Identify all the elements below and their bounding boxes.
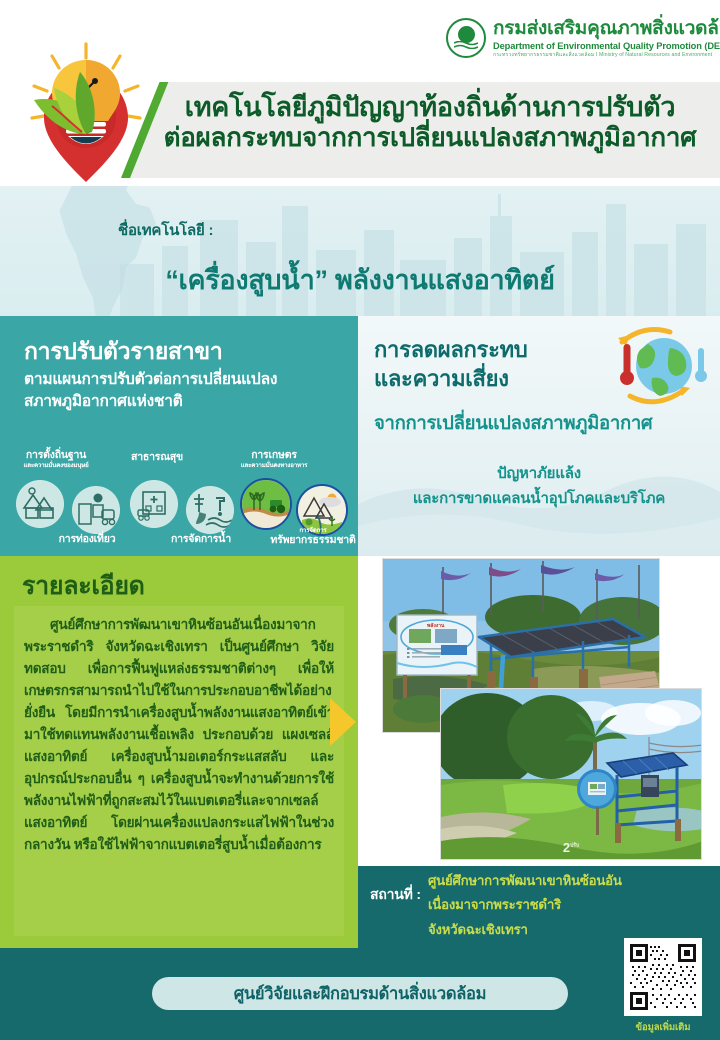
location-line3: จังหวัดฉะเชิงเทรา: [428, 918, 628, 942]
poster-root: กรมส่งเสริมคุณภาพสิ่งแวดล้อม Department …: [0, 0, 720, 1040]
solar-pump-ricefield-photo[interactable]: 2ปรับ: [440, 688, 702, 860]
adaptation-subheading-line1: ตามแผนการปรับตัวต่อการเปลี่ยนแปลง: [24, 369, 354, 391]
org-name-th: กรมส่งเสริมคุณภาพสิ่งแวดล้อม: [493, 18, 720, 40]
footer-pill[interactable]: ศูนย์วิจัยและฝึกอบรมด้านสิ่งแวดล้อม: [152, 977, 568, 1010]
deqp-emblem-icon: [446, 18, 486, 58]
public-health-icon[interactable]: [130, 480, 178, 528]
sector-label-natural-resources: การจัดการ ทรัพยากรธรรมชาติ: [268, 528, 358, 546]
sector-label-settlement: การตั้งถิ่นฐาน และความมั่นคงของมนุษย์: [6, 450, 106, 469]
impact-issue-line1: ปัญหาภัยแล้ง: [358, 462, 720, 487]
page-title-line2: ต่อผลกระทบจากการเปลี่ยนแปลงสภาพภูมิอากาศ: [150, 123, 710, 153]
adaptation-subheading-line2: สภาพภูมิอากาศแห่งชาติ: [24, 391, 354, 413]
location-line1: ศูนย์ศึกษาการพัฒนาเขาหินซ้อนอัน: [428, 869, 628, 893]
photo-watermark: 2ปรับ: [563, 840, 579, 855]
water-management-icon[interactable]: [186, 486, 234, 534]
sector-label-agriculture: การเกษตร และความมั่นคงทางอาหาร: [224, 450, 324, 469]
impact-subheading: จากการเปลี่ยนแปลงสภาพภูมิอากาศ: [374, 409, 704, 438]
deqp-logo: กรมส่งเสริมคุณภาพสิ่งแวดล้อม Department …: [446, 18, 720, 60]
arrow-right-icon: [330, 698, 356, 746]
impact-heading-line1: การลดผลกระทบ: [374, 336, 604, 365]
sector-icon-row: การตั้งถิ่นฐาน และความมั่นคงของมนุษย์ สา…: [0, 448, 358, 556]
details-heading: รายละเอียด: [22, 566, 145, 606]
svg-text:พลังงาน: พลังงาน: [427, 622, 445, 629]
technology-label: ชื่อเทคโนโลยี :: [118, 218, 213, 242]
impact-heading: การลดผลกระทบ และความเสี่ยง: [374, 336, 604, 393]
location-value: ศูนย์ศึกษาการพัฒนาเขาหินซ้อนอัน เนื่องมา…: [428, 869, 628, 942]
technology-name: “เครื่องสูบน้ำ” พลังงานแสงอาทิตย์: [0, 258, 720, 301]
qr-caption: ข้อมูลเพิ่มเติม: [612, 1020, 714, 1035]
qr-code-icon: [628, 942, 698, 1012]
sector-label-public-health: สาธารณสุข: [112, 452, 202, 464]
details-text: ศูนย์ศึกษาการพัฒนาเขาหินซ้อนอันเนื่องมาจ…: [24, 614, 334, 856]
globe-thermometer-icon: [600, 326, 712, 408]
org-name-en: Department of Environmental Quality Prom…: [493, 40, 720, 52]
qr-code[interactable]: [624, 938, 702, 1016]
sector-label-water-management: การจัดการน้ำ: [156, 534, 246, 546]
org-ministry: กระทรวงทรัพยากรธรรมชาติและสิ่งแวดล้อม I …: [493, 52, 720, 59]
impact-issue-line2: และการขาดแคลนน้ำอุปโภคและบริโภค: [358, 487, 720, 512]
impact-heading-line2: และความเสี่ยง: [374, 365, 604, 394]
wave-icon: [454, 41, 478, 49]
footer-text: ศูนย์วิจัยและฝึกอบรมด้านสิ่งแวดล้อม: [234, 981, 487, 1007]
page-title: เทคโนโลยีภูมิปัญญาท้องถิ่นด้านการปรับตัว…: [150, 92, 710, 152]
adaptation-heading: การปรับตัวรายสาขา: [24, 334, 222, 370]
details-body: ศูนย์ศึกษาการพัฒนาเขาหินซ้อนอันเนื่องมาจ…: [14, 606, 344, 936]
settlement-icon[interactable]: [16, 480, 64, 528]
location-label: สถานที่ :: [370, 884, 421, 906]
location-line2: เนื่องมาจากพระราชดำริ: [428, 893, 628, 917]
tourism-icon[interactable]: [72, 486, 120, 534]
adaptation-subheading: ตามแผนการปรับตัวต่อการเปลี่ยนแปลง สภาพภู…: [24, 369, 354, 414]
impact-issue: ปัญหาภัยแล้ง และการขาดแคลนน้ำอุปโภคและบร…: [358, 462, 720, 512]
agriculture-icon[interactable]: [240, 478, 292, 530]
lightbulb-pin-logo-icon: [10, 38, 175, 223]
sector-label-tourism: การท่องเที่ยว: [42, 534, 132, 546]
page-title-line1: เทคโนโลยีภูมิปัญญาท้องถิ่นด้านการปรับตัว: [150, 92, 710, 123]
